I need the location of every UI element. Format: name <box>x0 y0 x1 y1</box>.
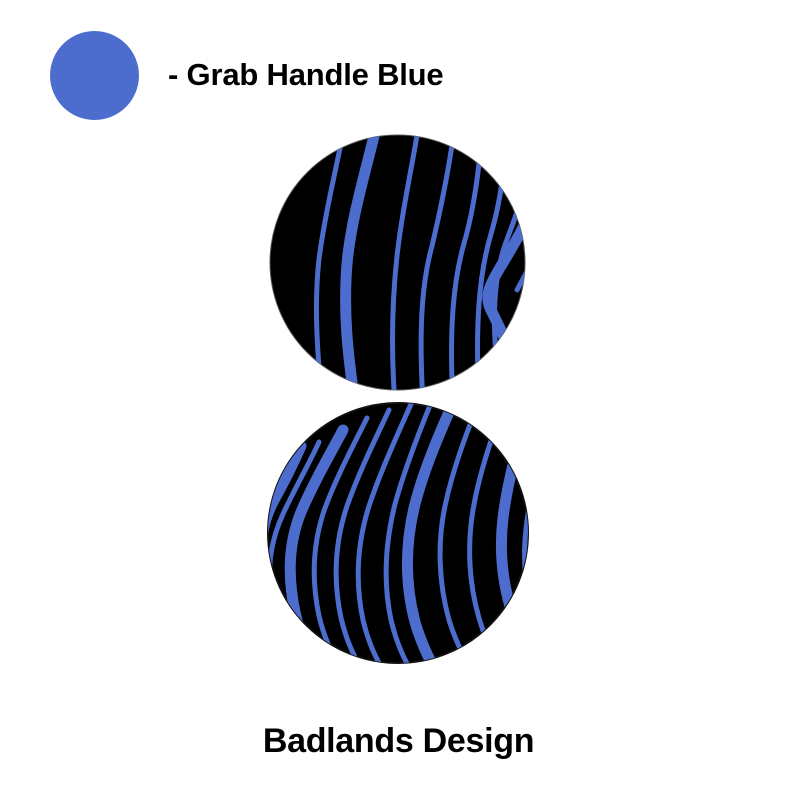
bottom-pattern-circle <box>267 402 529 664</box>
design-canvas: - Grab Handle Blue <box>0 0 797 797</box>
brand-title: Badlands Design <box>0 722 797 761</box>
top-pattern-circle <box>269 134 526 391</box>
color-legend: - Grab Handle Blue <box>50 31 570 121</box>
color-swatch-circle <box>50 31 139 120</box>
color-legend-label: - Grab Handle Blue <box>168 57 443 93</box>
